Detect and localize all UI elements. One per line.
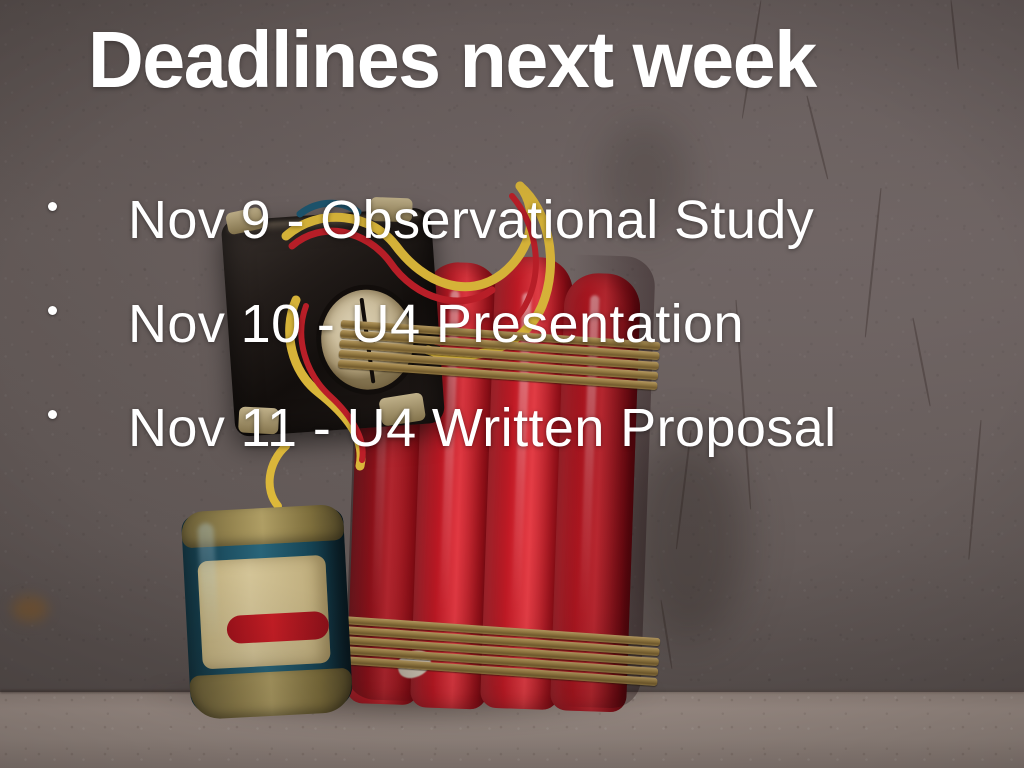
list-item: Nov 10 - U4 Presentation [48, 280, 964, 368]
bullet-dot-icon [48, 306, 57, 315]
bullet-list: Nov 9 - Observational Study Nov 10 - U4 … [48, 176, 964, 488]
list-item: Nov 9 - Observational Study [48, 176, 964, 264]
page-title: Deadlines next week [88, 12, 928, 108]
list-item-label: Nov 11 - U4 Written Proposal [128, 384, 928, 472]
bullet-dot-icon [48, 410, 57, 419]
list-item-label: Nov 10 - U4 Presentation [128, 280, 928, 368]
bullet-dot-icon [48, 202, 57, 211]
list-item: Nov 11 - U4 Written Proposal [48, 384, 964, 472]
slide-content: Deadlines next week Nov 9 - Observationa… [0, 0, 1024, 768]
list-item-label: Nov 9 - Observational Study [128, 176, 928, 264]
presentation-slide: Deadlines next week Nov 9 - Observationa… [0, 0, 1024, 768]
